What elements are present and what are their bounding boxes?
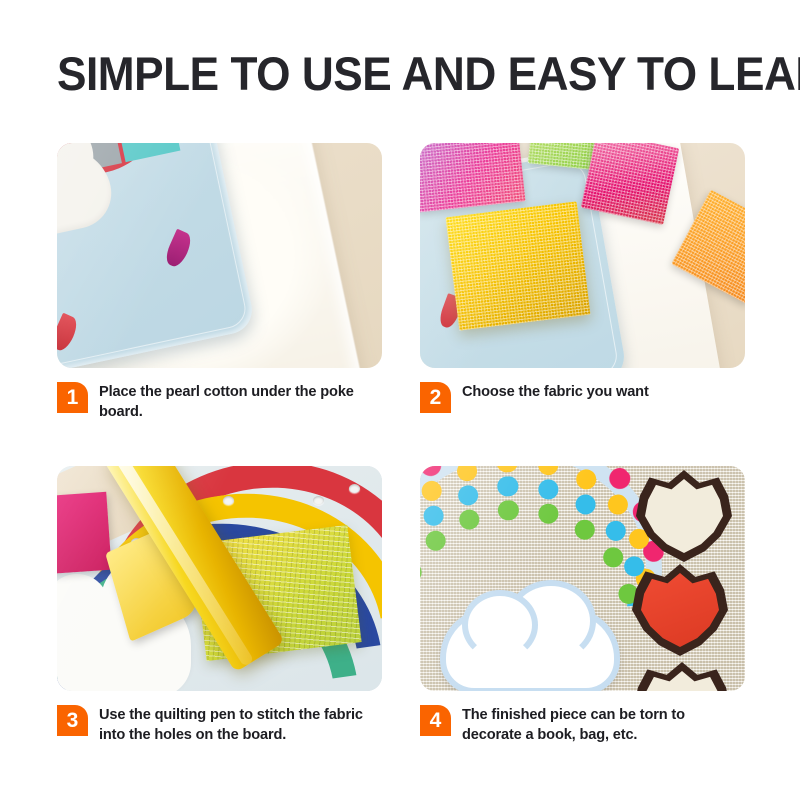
- step-caption-text-1: Place the pearl cotton under the poke bo…: [99, 381, 381, 422]
- step-number-badge-1: 1: [57, 382, 88, 413]
- step-3-photo: [57, 466, 382, 691]
- step-1-photo: [57, 143, 382, 368]
- fabric-square-magenta: [57, 492, 112, 574]
- promo-page: SIMPLE TO USE AND EASY TO LEARN 1 Place …: [0, 0, 800, 800]
- step-caption-text-2: Choose the fabric you want: [462, 381, 649, 403]
- step-number-badge-3: 3: [57, 705, 88, 736]
- step-card-1: 1 Place the pearl cotton under the poke …: [57, 143, 382, 422]
- step-number-badge-2: 2: [420, 382, 451, 413]
- punch-hole: [349, 484, 360, 493]
- fabric-square-yellow: [446, 201, 591, 330]
- step-4-photo: [420, 466, 745, 691]
- step-caption-text-4: The finished piece can be torn to decora…: [462, 704, 744, 745]
- fabric-square-pink: [420, 143, 525, 212]
- flower-filled-red: [632, 564, 728, 656]
- punch-hole: [223, 496, 234, 505]
- step-1-caption: 1 Place the pearl cotton under the poke …: [57, 381, 382, 422]
- punch-hole: [313, 496, 324, 505]
- flower-outline-empty: [636, 470, 732, 562]
- step-3-caption: 3 Use the quilting pen to stitch the fab…: [57, 704, 382, 745]
- step-number-badge-4: 4: [420, 705, 451, 736]
- cloud-shape: [440, 608, 620, 691]
- step-4-caption: 4 The finished piece can be torn to deco…: [420, 704, 745, 745]
- step-card-2: 2 Choose the fabric you want: [420, 143, 745, 422]
- flower-outline-partial: [634, 662, 730, 691]
- steps-grid: 1 Place the pearl cotton under the poke …: [57, 143, 745, 745]
- step-card-3: 3 Use the quilting pen to stitch the fab…: [57, 466, 382, 745]
- step-2-caption: 2 Choose the fabric you want: [420, 381, 745, 413]
- step-caption-text-3: Use the quilting pen to stitch the fabri…: [99, 704, 381, 745]
- page-title: SIMPLE TO USE AND EASY TO LEARN: [57, 48, 715, 100]
- step-card-4: 4 The finished piece can be torn to deco…: [420, 466, 745, 745]
- step-2-photo: [420, 143, 745, 368]
